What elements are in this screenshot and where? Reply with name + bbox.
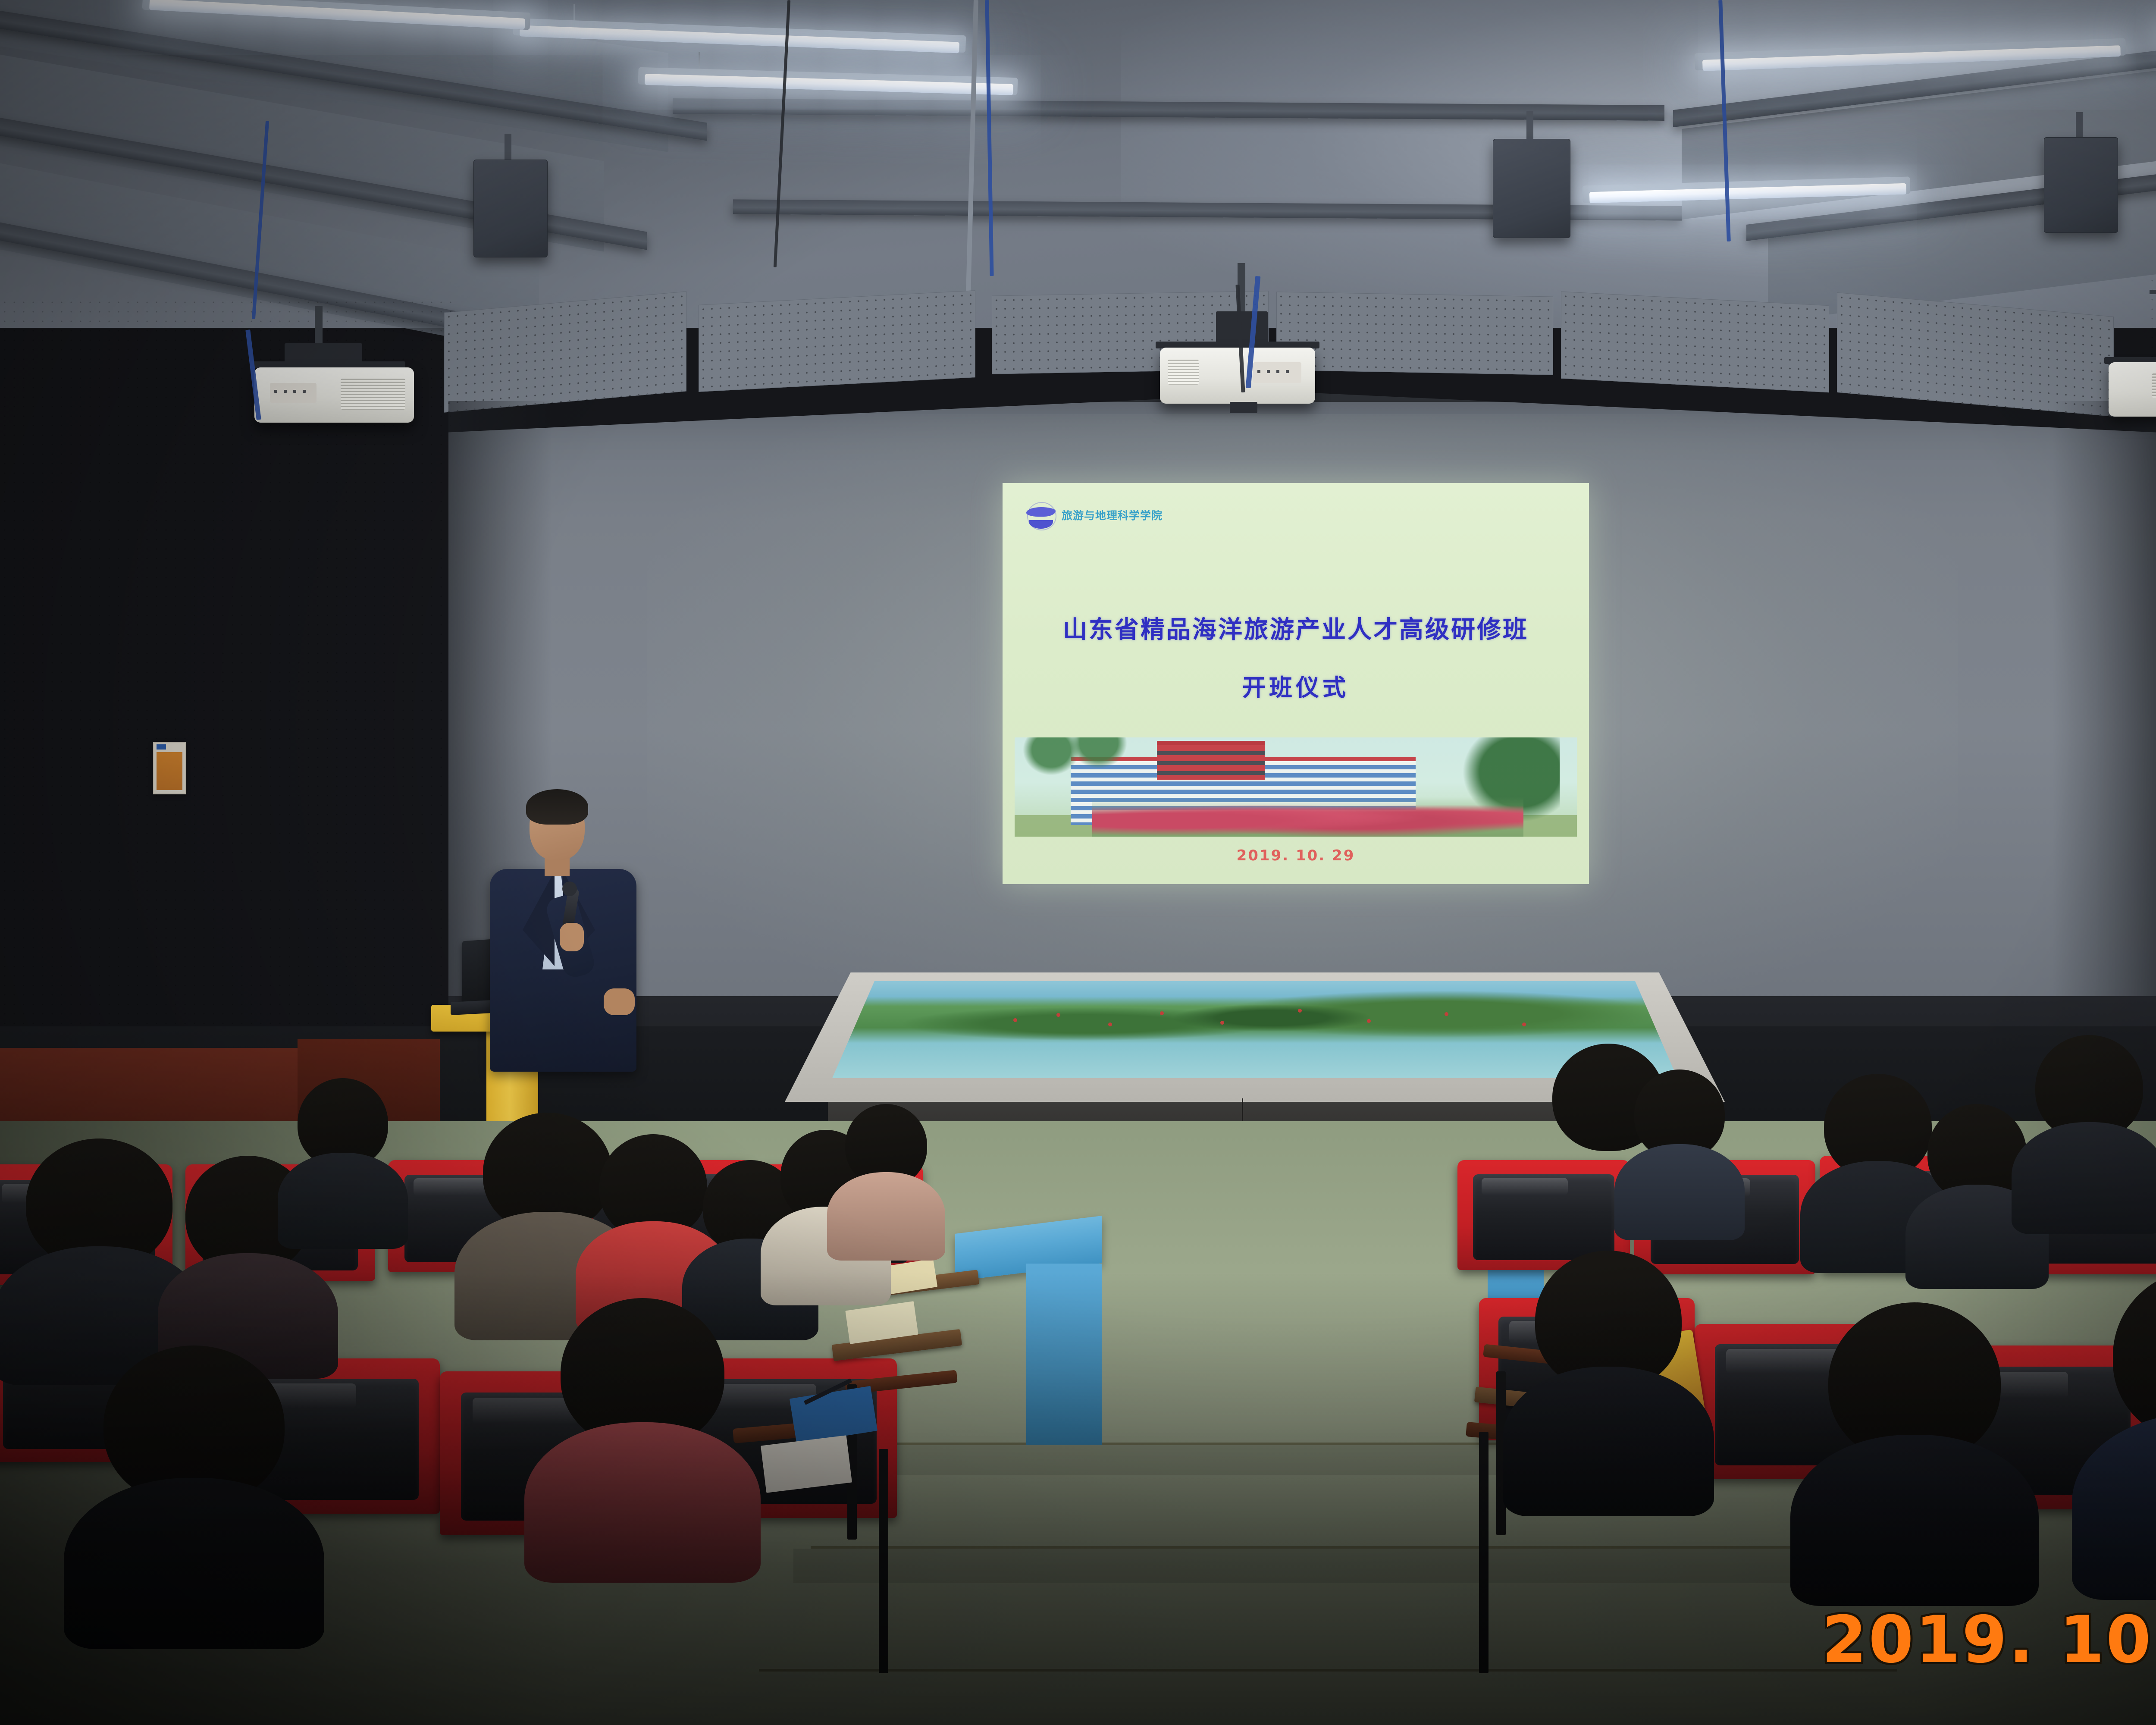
curtain-rod — [2150, 290, 2156, 294]
wave-shield-logo-icon — [1026, 499, 1056, 530]
projector-button[interactable] — [1267, 370, 1270, 373]
audience-member — [2035, 1035, 2143, 1216]
slide-date: 2019. 10. 29 — [1003, 847, 1589, 864]
sand-table-terrain-map — [832, 981, 1677, 1078]
projector-button[interactable] — [284, 390, 287, 393]
projector-control-panel — [270, 383, 317, 403]
audience-member — [1634, 1069, 1725, 1225]
projector-body — [2109, 362, 2156, 417]
audience-member — [1535, 1251, 1682, 1492]
speaker-mount-stem — [505, 134, 511, 163]
projector-right — [2078, 319, 2156, 466]
projector-vent-icon — [341, 379, 405, 410]
projector-keystone-block — [1230, 402, 1257, 413]
projector-button[interactable] — [1286, 370, 1289, 373]
speaker-mount-stem — [2076, 112, 2083, 141]
acoustic-panel — [699, 290, 975, 392]
audience-member — [26, 1138, 172, 1363]
projected-slide: 旅游与地理科学学院 山东省精品海洋旅游产业人才高级研修班 开班仪式 2019. … — [1003, 483, 1589, 884]
projector-button[interactable] — [293, 390, 296, 393]
projector-center — [1121, 302, 1345, 448]
presenter-hair — [526, 789, 588, 825]
audience-member — [103, 1345, 285, 1621]
microphone-head-icon — [562, 881, 577, 896]
audience-member — [298, 1078, 388, 1233]
audience-member — [561, 1298, 724, 1557]
slide-title: 山东省精品海洋旅游产业人才高级研修班 — [1003, 610, 1589, 645]
ceiling-speaker — [1493, 139, 1570, 238]
seat-leg — [1479, 1432, 1489, 1673]
speaker-mount-stem — [1526, 111, 1533, 142]
projector-vent-icon — [1168, 360, 1199, 385]
slide-logo: 旅游与地理科学学院 — [1026, 499, 1163, 530]
camera-date-stamp: 2019. 10. 29 08:35 — [1822, 1603, 2156, 1678]
photo-flower-bed — [1092, 797, 1523, 837]
projector-vent-icon — [2152, 373, 2156, 398]
projector-left — [233, 328, 431, 470]
slide-subtitle: 开班仪式 — [1003, 668, 1589, 703]
projector-button[interactable] — [1276, 370, 1279, 373]
projector-mount — [285, 343, 362, 363]
ceiling-speaker — [473, 160, 548, 257]
blue-table-cloth-drop — [1026, 1264, 1102, 1445]
presenter-hand-resting — [604, 988, 635, 1015]
lecture-hall-photo: 旅游与地理科学学院 山东省精品海洋旅游产业人才高级研修班 开班仪式 2019. … — [0, 0, 2156, 1725]
photo-building-tower — [1157, 741, 1265, 780]
projector-pole — [315, 306, 323, 345]
projector-button[interactable] — [303, 390, 306, 393]
audience-member — [845, 1104, 927, 1246]
audience-member — [2113, 1268, 2156, 1570]
screen-right-shading — [2053, 401, 2156, 1048]
presenter-hand — [560, 923, 584, 951]
wall-notice-sign — [153, 742, 186, 794]
slide-logo-text: 旅游与地理科学学院 — [1062, 507, 1163, 523]
seat-leg — [879, 1449, 888, 1673]
acoustic-panel — [1561, 292, 1829, 393]
photo-palm-tree — [1066, 737, 1131, 772]
ceiling-speaker — [2044, 137, 2118, 233]
projector-button[interactable] — [274, 390, 277, 393]
projector-button[interactable] — [1257, 370, 1260, 373]
acoustic-panel — [444, 291, 686, 412]
slide-campus-photo — [1015, 737, 1577, 837]
audience-member — [1828, 1302, 2001, 1578]
presenter-speaking — [474, 793, 655, 1147]
